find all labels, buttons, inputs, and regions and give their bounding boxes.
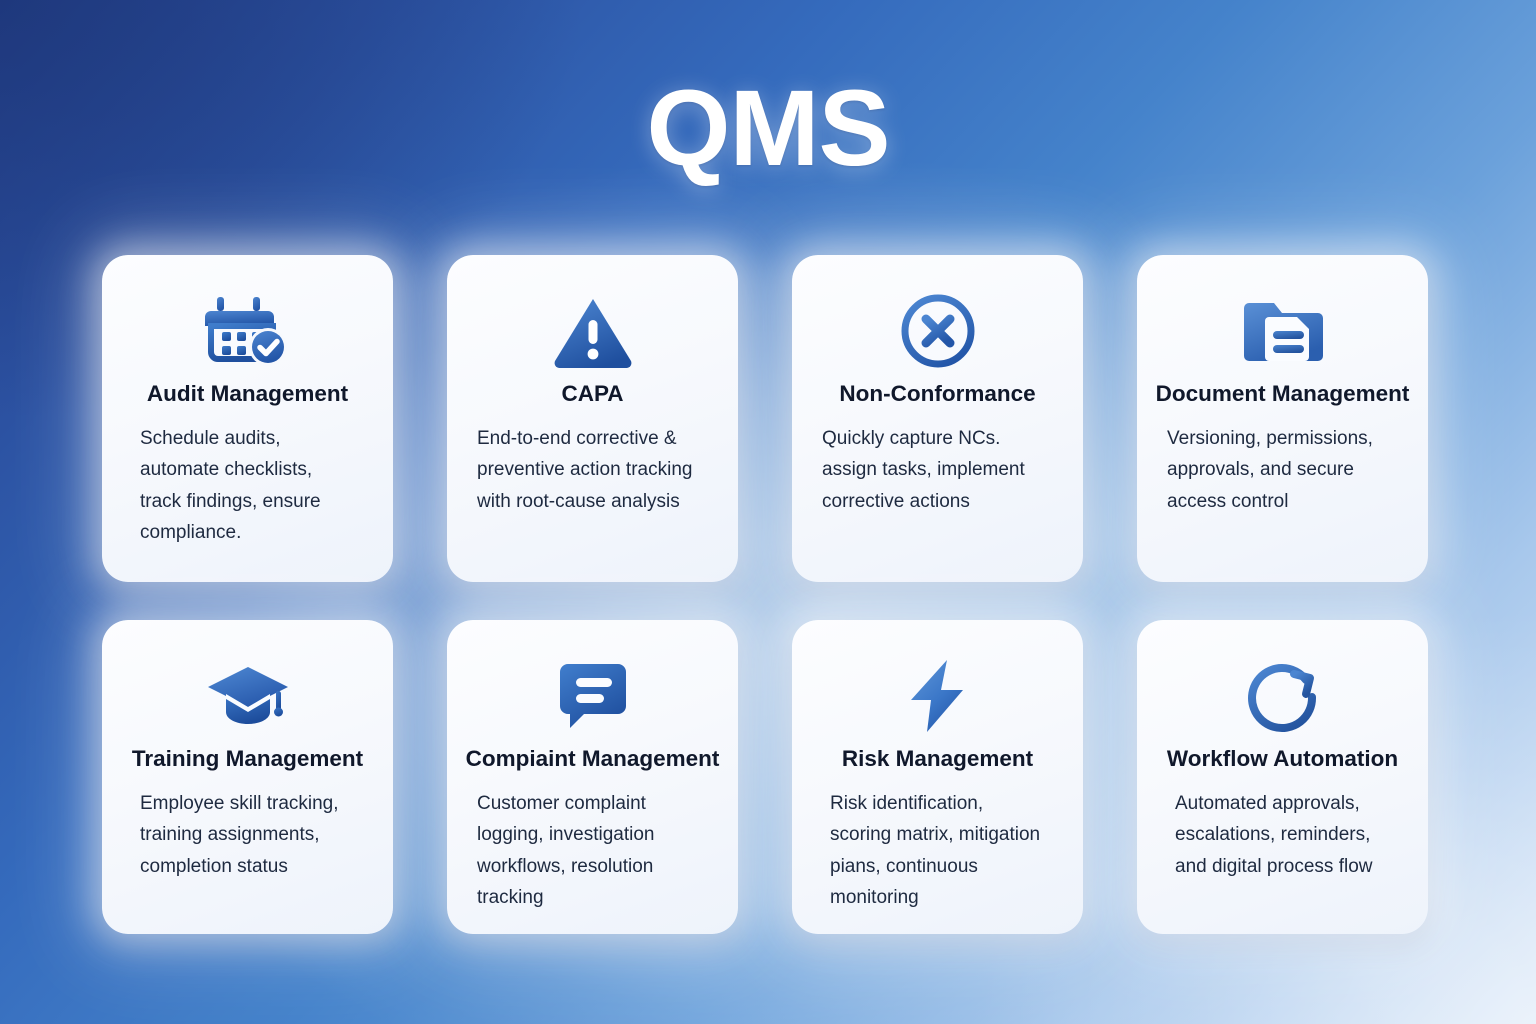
circle-x-icon [898,285,978,377]
feature-card-title: Risk Management [842,746,1033,772]
feature-card-description: Versioning, permissions, approvals, and … [1161,423,1404,518]
feature-card-title: Workflow Automation [1167,746,1398,772]
calendar-check-icon [205,285,291,377]
feature-card-complaint-management[interactable]: Compiaint Management Customer complaint … [447,620,738,934]
refresh-circle-icon [1242,650,1324,742]
feature-card-training-management[interactable]: Training Management Employee skill track… [102,620,393,934]
feature-card-risk-management[interactable]: Risk Management Risk identification, sco… [792,620,1083,934]
graduation-cap-icon [204,650,292,742]
feature-card-title: CAPA [561,381,623,407]
feature-card-description: Automated approvals, escalations, remind… [1161,788,1404,883]
feature-card-description: Quickly capture NCs. assign tasks, imple… [816,423,1059,518]
feature-card-title: Audit Management [147,381,348,407]
folder-document-icon [1239,285,1327,377]
lightning-bolt-icon [901,650,975,742]
qms-feature-board: QMS [0,0,1536,1024]
warning-triangle-icon [551,285,635,377]
feature-card-description: Employee skill tracking, training assign… [126,788,369,883]
feature-card-description: End-to-end corrective & preventive actio… [471,423,714,518]
feature-card-grid: Audit Management Schedule audits, automa… [102,255,1428,934]
feature-card-audit-management[interactable]: Audit Management Schedule audits, automa… [102,255,393,582]
page-title: QMS [0,74,1536,182]
feature-card-title: Non-Conformance [839,381,1035,407]
feature-card-description: Risk identification, scoring matrix, mit… [816,788,1059,914]
feature-card-description: Customer complaint logging, investigatio… [471,788,714,914]
feature-card-document-management[interactable]: Document Management Versioning, permissi… [1137,255,1428,582]
feature-card-capa[interactable]: CAPA End-to-end corrective & preventive … [447,255,738,582]
feature-card-description: Schedule audits, automate checklists, tr… [126,423,369,549]
feature-card-title: Training Management [132,746,363,772]
feature-card-workflow-automation[interactable]: Workflow Automation Automated approvals,… [1137,620,1428,934]
feature-card-title: Compiaint Management [466,746,720,772]
chat-bubble-icon [554,650,632,742]
feature-card-title: Document Management [1156,381,1410,407]
feature-card-non-conformance[interactable]: Non-Conformance Quickly capture NCs. ass… [792,255,1083,582]
